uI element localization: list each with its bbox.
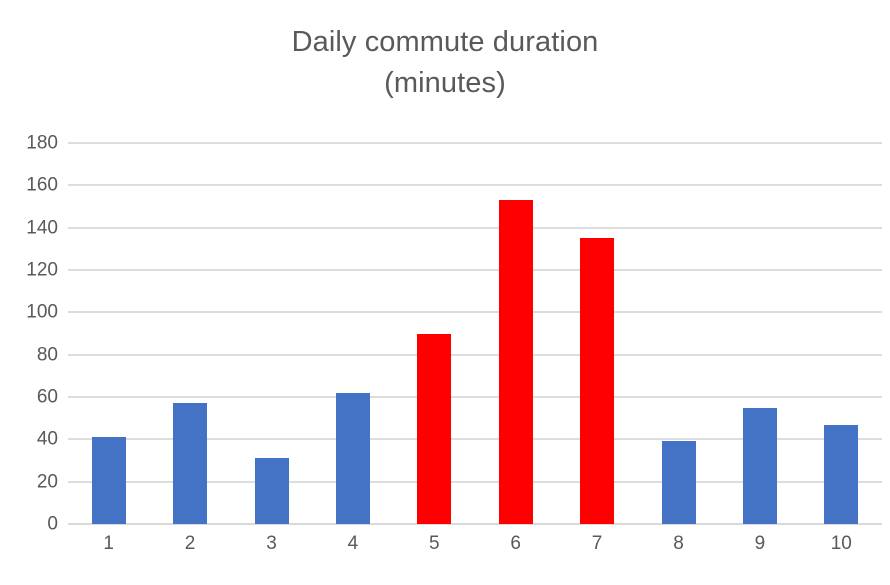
y-tick-label: 100 (0, 303, 58, 322)
y-tick-label: 0 (0, 515, 58, 534)
bar[interactable] (824, 425, 858, 524)
x-tick-label: 6 (510, 530, 521, 558)
y-tick-label: 180 (0, 134, 58, 153)
x-tick-label: 10 (831, 530, 852, 558)
x-tick-label: 5 (429, 530, 440, 558)
bar[interactable] (92, 437, 126, 524)
x-tick-label: 3 (266, 530, 277, 558)
bar[interactable] (743, 408, 777, 524)
x-tick-label: 8 (673, 530, 684, 558)
x-tick-label: 2 (185, 530, 196, 558)
chart-title-line-1: Daily commute duration (0, 22, 890, 63)
y-tick-label: 160 (0, 176, 58, 195)
chart-title: Daily commute duration (minutes) (0, 22, 890, 104)
y-tick-label: 140 (0, 218, 58, 237)
y-tick-label: 60 (0, 388, 58, 407)
bar[interactable] (336, 393, 370, 524)
x-tick-label: 7 (592, 530, 603, 558)
y-tick-label: 80 (0, 345, 58, 364)
x-tick-label: 9 (755, 530, 766, 558)
x-tick-label: 1 (103, 530, 114, 558)
chart-title-line-2: (minutes) (0, 63, 890, 104)
bar[interactable] (499, 200, 533, 524)
bar[interactable] (580, 238, 614, 524)
y-tick-label: 120 (0, 261, 58, 280)
bar-chart: Daily commute duration (minutes) 0204060… (0, 0, 890, 585)
bar[interactable] (173, 403, 207, 524)
bar[interactable] (662, 441, 696, 524)
y-axis-tick-labels: 020406080100120140160180 (0, 143, 58, 524)
x-axis-tick-labels: 12345678910 (68, 530, 882, 570)
bars-layer (68, 143, 882, 524)
x-tick-label: 4 (348, 530, 359, 558)
bar[interactable] (417, 334, 451, 525)
bar[interactable] (255, 458, 289, 524)
y-tick-label: 40 (0, 430, 58, 449)
y-tick-label: 20 (0, 472, 58, 491)
